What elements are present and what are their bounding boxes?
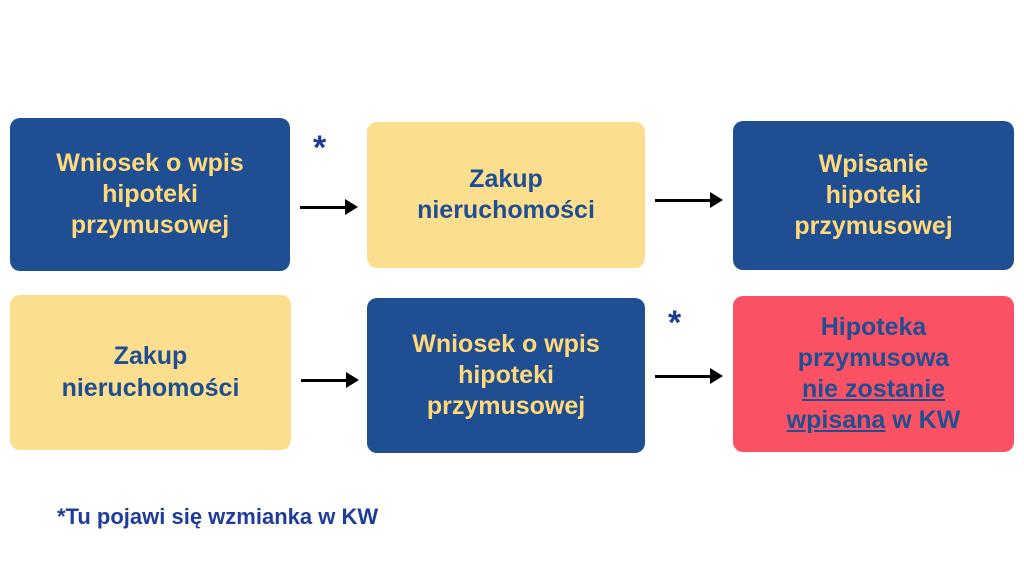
flow-box-text: Wniosek o wpis hipoteki przymusowej [56, 148, 244, 242]
arrow-row1-step1-to-step2 [300, 195, 358, 219]
arrow-row2-step2-to-step3 [655, 364, 723, 388]
flow-box-text: Zakup nieruchomości [62, 341, 240, 404]
arrow-head [710, 192, 723, 208]
diagram-canvas: Wniosek o wpis hipoteki przymusowej * Za… [0, 0, 1024, 576]
arrow-head [346, 372, 359, 388]
flow-box-text: Wniosek o wpis hipoteki przymusowej [412, 329, 600, 423]
flow-box-wniosek-o-wpis-hipoteki-przymusowej-row1: Wniosek o wpis hipoteki przymusowej [10, 118, 290, 271]
arrow-row1-step2-to-step3 [655, 188, 723, 212]
arrow-head [345, 199, 358, 215]
flow-box-wniosek-o-wpis-hipoteki-przymusowej-row2: Wniosek o wpis hipoteki przymusowej [367, 298, 645, 453]
flow-box-line: Wniosek o wpis [412, 329, 600, 360]
flow-box-line: przymusowej [56, 210, 244, 241]
flow-box-hipoteka-nie-zostanie-wpisana-row2: Hipoteka przymusowa nie zostanie wpisana… [733, 296, 1014, 452]
arrow-head [710, 368, 723, 384]
flow-box-line: przymusowa [787, 343, 961, 374]
flow-box-line-underline-part: wpisana [787, 406, 886, 434]
flow-box-line: przymusowej [412, 391, 600, 422]
arrow-shaft [655, 375, 711, 378]
flow-box-line: hipoteki [412, 360, 600, 391]
flow-box-line: nieruchomości [417, 195, 595, 226]
flow-box-line: Zakup [417, 164, 595, 195]
arrow-shaft [300, 206, 346, 209]
flow-box-wpisanie-hipoteki-przymusowej-row1: Wpisanie hipoteki przymusowej [733, 121, 1014, 270]
flow-box-line: Wpisanie [794, 149, 952, 180]
flow-box-line-mixed: wpisana w KW [787, 405, 961, 436]
flow-box-zakup-nieruchomosci-row2: Zakup nieruchomości [10, 295, 291, 450]
flow-box-line: Wniosek o wpis [56, 148, 244, 179]
flow-box-line: nieruchomości [62, 373, 240, 404]
flow-box-line: przymusowej [794, 211, 952, 242]
asterisk-marker-row2: * [668, 306, 681, 340]
flow-box-line: hipoteki [56, 179, 244, 210]
flow-box-line-underlined: nie zostanie [787, 374, 961, 405]
arrow-row2-step1-to-step2 [301, 368, 359, 392]
flow-box-text: Hipoteka przymusowa nie zostanie wpisana… [787, 312, 961, 437]
arrow-shaft [301, 379, 347, 382]
flow-box-line: Hipoteka [787, 312, 961, 343]
flow-box-line: Zakup [62, 341, 240, 372]
arrow-shaft [655, 199, 711, 202]
flow-box-text: Wpisanie hipoteki przymusowej [794, 149, 952, 243]
footnote-wzmianka-w-kw: *Tu pojawi się wzmianka w KW [57, 504, 378, 530]
flow-box-zakup-nieruchomosci-row1: Zakup nieruchomości [367, 122, 645, 268]
flow-box-text: Zakup nieruchomości [417, 164, 595, 227]
asterisk-marker-row1: * [313, 131, 326, 165]
flow-box-line: hipoteki [794, 180, 952, 211]
